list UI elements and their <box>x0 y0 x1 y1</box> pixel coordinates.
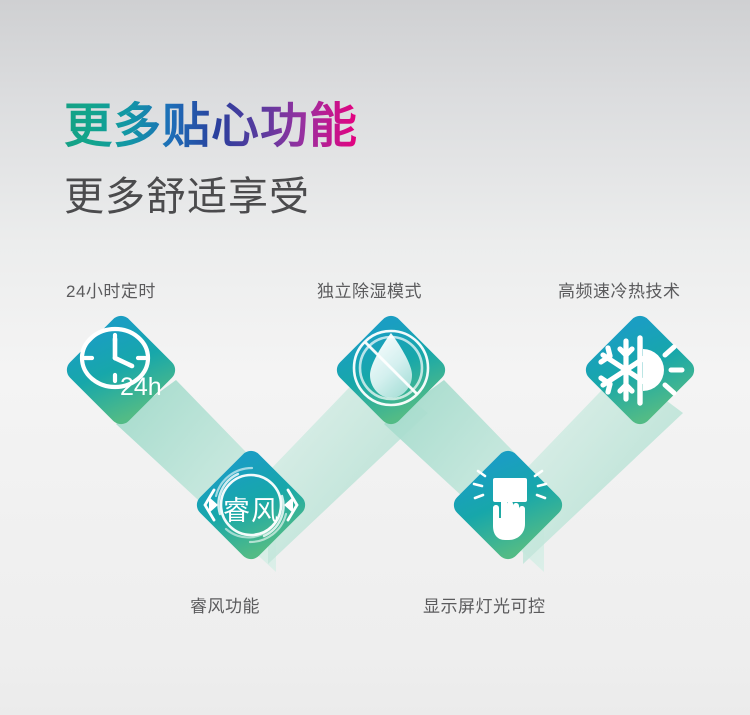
feature-diamond-display-light[interactable] <box>449 446 567 564</box>
clock-icon <box>62 311 180 429</box>
feature-diamond-breeze[interactable]: 睿风 <box>192 446 310 564</box>
feature-label-display-light: 显示屏灯光可控 <box>423 592 546 617</box>
hand-touch-display-icon <box>449 446 567 564</box>
water-drop-blocked-icon <box>332 311 450 429</box>
timer-badge-label: 24h <box>120 373 162 402</box>
breeze-badge-label: 睿风 <box>192 489 310 528</box>
promo-graphic: 更多贴心功能 更多舒适享受 <box>0 0 750 715</box>
feature-label-fast-cool-heat: 高频速冷热技术 <box>558 277 681 302</box>
page-title: 更多贴心功能 <box>64 100 358 154</box>
page-subtitle: 更多舒适享受 <box>64 164 310 222</box>
feature-diamond-timer[interactable]: 24h <box>62 311 180 429</box>
feature-label-breeze: 睿风功能 <box>190 592 260 617</box>
feature-label-timer: 24小时定时 <box>66 277 156 302</box>
feature-label-dehumidify: 独立除湿模式 <box>317 277 422 302</box>
feature-diamond-dehumidify[interactable] <box>332 311 450 429</box>
snowflake-sun-icon <box>581 311 699 429</box>
feature-diamond-fast-cool-heat[interactable] <box>581 311 699 429</box>
